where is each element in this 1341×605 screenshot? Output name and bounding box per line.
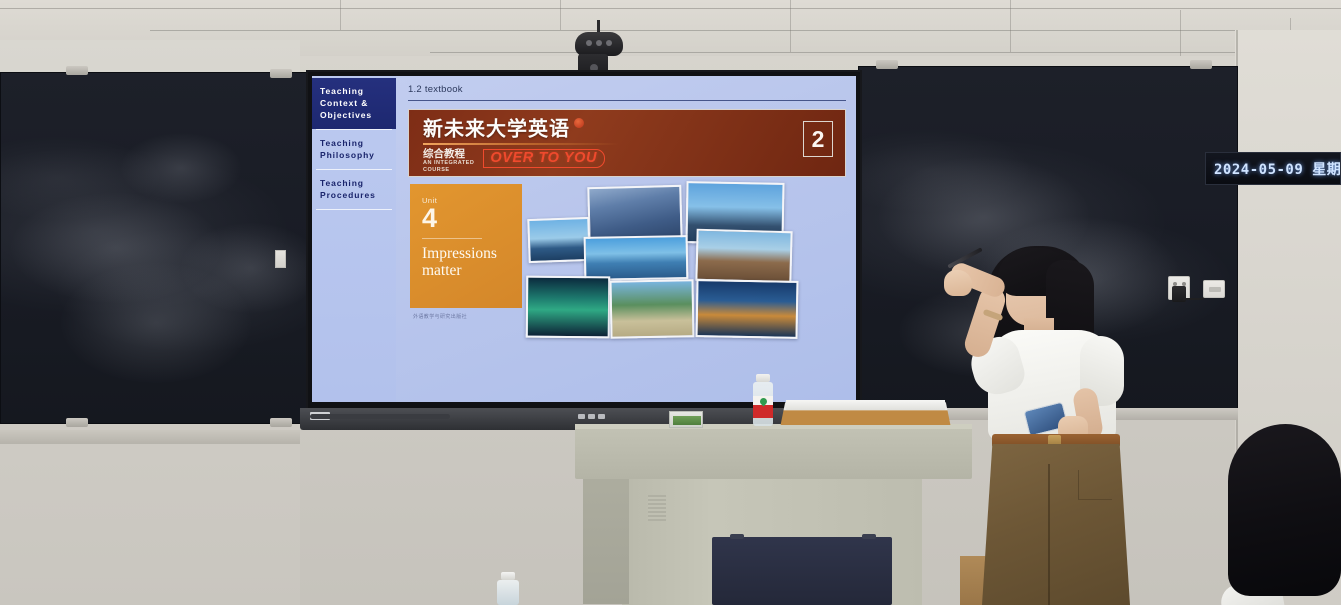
harbor-cityscape-photo <box>527 217 590 263</box>
aurora-tent-photo <box>526 276 611 339</box>
board-bracket <box>876 60 898 69</box>
beach-runners-photo <box>610 280 695 339</box>
title-underline <box>423 143 619 145</box>
volume-number-badge: 2 <box>803 121 833 157</box>
left-counter <box>0 430 300 444</box>
chalkboard-left <box>0 72 314 424</box>
bottle-cap <box>756 374 770 382</box>
open-book-pages <box>786 400 945 410</box>
slide-sidebar-nav: Teaching Context & Objectives Teaching P… <box>312 76 396 402</box>
skirt-fold <box>1048 464 1050 605</box>
board-bracket <box>1190 60 1212 69</box>
unit-number: 4 <box>422 206 512 232</box>
podium-vents <box>648 495 666 521</box>
textbook-subtitle-cn: 综合教程 <box>423 148 474 160</box>
presenter-skirt <box>982 444 1130 605</box>
nav-divider <box>316 209 392 210</box>
wall-switch[interactable] <box>275 250 286 268</box>
board-bracket <box>66 418 88 427</box>
sidebar-item-teaching-procedures[interactable]: Teaching Procedures <box>312 170 396 209</box>
unit-title: Impressions matter <box>422 245 512 280</box>
textbook-subtitle-block: 综合教程 AN INTEGRATED COURSE <box>423 148 474 175</box>
sidebar-item-teaching-context[interactable]: Teaching Context & Objectives <box>312 78 396 129</box>
slide-kicker-label: 1.2 textbook <box>408 84 846 95</box>
presentation-slide: Teaching Context & Objectives Teaching P… <box>312 76 856 402</box>
classroom-scene: 2024-05-09 星期四 Teaching Context & Object… <box>0 0 1341 605</box>
unit-divider <box>422 238 482 239</box>
textbook-title-text: 新未来大学英语 <box>423 119 570 141</box>
podium-desktop <box>575 424 972 479</box>
slide-divider-rule <box>408 100 846 101</box>
board-bracket <box>270 418 292 427</box>
presenter-left-hand <box>944 270 972 296</box>
sidebar-item-label: Teaching Context & Objectives <box>320 86 372 120</box>
monitor-clip <box>730 534 744 539</box>
audience-hair <box>1228 424 1341 596</box>
sidebar-item-label: Teaching Philosophy <box>320 138 375 160</box>
sidebar-item-teaching-philosophy[interactable]: Teaching Philosophy <box>312 130 396 169</box>
small-green-label-box <box>669 411 703 428</box>
slide-body: 1.2 textbook 新未来大学英语 综合教程 AN INTEGRATED … <box>396 76 856 402</box>
port-slot <box>1209 287 1221 292</box>
louvre-pyramid-photo <box>696 280 799 340</box>
water-bottle-podium <box>753 374 773 426</box>
unit-card: Unit 4 Impressions matter <box>410 184 522 308</box>
textbook-banner: 新未来大学英语 综合教程 AN INTEGRATED COURSE OVER T… <box>408 109 846 177</box>
skirt-pocket <box>1078 470 1112 500</box>
camera-lens-row <box>586 40 612 46</box>
wall-data-port[interactable] <box>1203 280 1225 298</box>
board-bracket <box>270 69 292 78</box>
bottle-cap <box>501 572 515 580</box>
textbook-subtitle-en-1: AN INTEGRATED <box>423 160 474 167</box>
water-bottle-floor <box>497 572 519 605</box>
led-date-text: 2024-05-09 星期四 <box>1214 159 1341 179</box>
textbook-subtitle-en-2: COURSE <box>423 167 474 174</box>
textbook-subtitle-row: 综合教程 AN INTEGRATED COURSE OVER TO YOU <box>423 148 835 175</box>
textbook-cover-lower: Unit 4 Impressions matter 外语教学与研究出版社 <box>408 184 846 347</box>
presenter <box>930 238 1170 605</box>
photo-collage <box>526 180 818 347</box>
publisher-name: 外语教学与研究出版社 <box>413 314 513 322</box>
board-bracket <box>66 66 88 75</box>
display-speaker-grille <box>310 414 450 419</box>
textbook-title-cn: 新未来大学英语 <box>423 118 835 140</box>
led-date-display: 2024-05-09 星期四 <box>1205 152 1341 185</box>
box-label <box>673 416 701 425</box>
sidebar-item-label: Teaching Procedures <box>320 178 376 200</box>
seal-stamp-icon <box>574 118 584 128</box>
series-logo-over-to-you: OVER TO YOU <box>483 149 605 168</box>
kangaroo-beach-photo <box>584 235 689 281</box>
podium-monitor[interactable] <box>712 537 892 605</box>
audience-member-foreground <box>1228 424 1341 605</box>
maasai-people-photo <box>695 229 792 283</box>
monitor-clip <box>862 534 876 539</box>
display-control-buttons[interactable] <box>578 414 605 419</box>
